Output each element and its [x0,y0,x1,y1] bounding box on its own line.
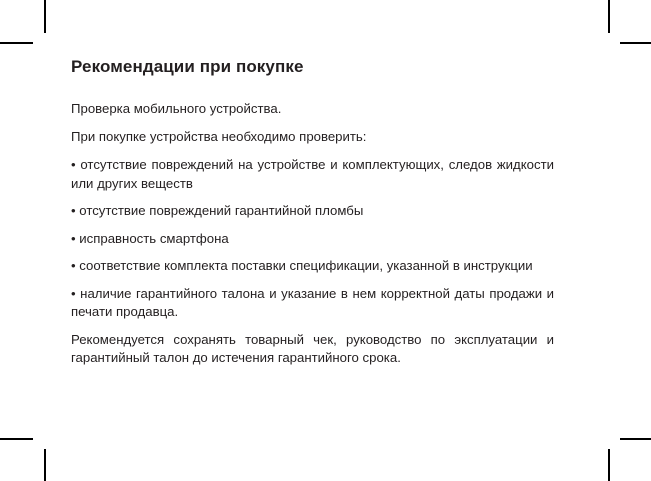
page-title: Рекомендации при покупке [71,56,554,78]
paragraph-intro-check: Проверка мобильного устройства. [71,100,554,119]
crop-mark-bottom-right-horizontal [620,438,651,440]
crop-mark-bottom-right-vertical [608,449,610,481]
crop-mark-top-left-horizontal [0,42,33,44]
document-page: Рекомендации при покупке Проверка мобиль… [0,0,651,481]
text-column: Рекомендации при покупке Проверка мобиль… [71,56,554,368]
list-item-warranty-card: • наличие гарантийного талона и указание… [71,285,554,322]
list-item-phone-works: • исправность смартфона [71,230,554,249]
paragraph-intro-must-verify: При покупке устройства необходимо провер… [71,128,554,147]
crop-mark-top-right-vertical [608,0,610,33]
list-item-kit-matches-spec: • соответствие комплекта поставки специф… [71,257,554,276]
crop-mark-top-left-vertical [44,0,46,33]
list-item-no-damage: • отсутствие повреждений на устройстве и… [71,156,554,193]
crop-mark-bottom-left-horizontal [0,438,33,440]
paragraph-closing-keep-documents: Рекомендуется сохранять товарный чек, ру… [71,331,554,368]
crop-mark-top-right-horizontal [620,42,651,44]
crop-mark-bottom-left-vertical [44,449,46,481]
list-item-seal-intact: • отсутствие повреждений гарантийной пло… [71,202,554,221]
